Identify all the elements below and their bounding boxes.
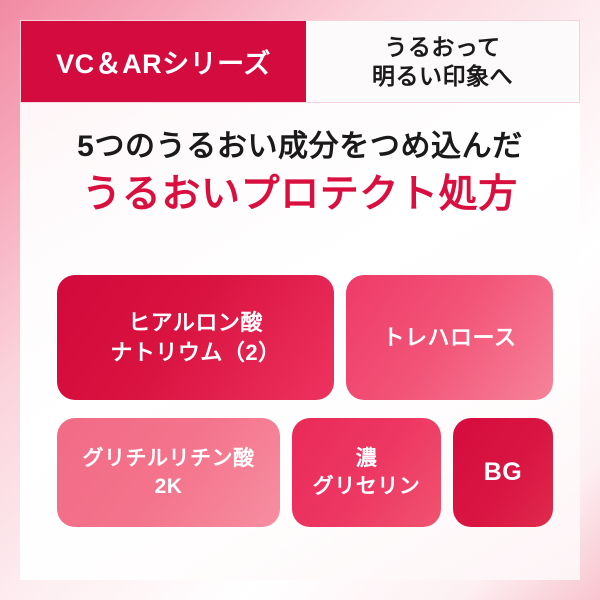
ingredient-label-line-1: 濃	[356, 447, 378, 470]
headline-line-1: 5つのうるおい成分をつめ込んだ	[20, 128, 580, 166]
ingredient-label-line-1: ヒアルロン酸	[128, 310, 263, 335]
series-badge: VC＆ARシリーズ	[21, 21, 306, 102]
ingredient-card-glycyrrhizinate: グリチルリチン酸 2K	[57, 418, 280, 527]
ingredient-card-trehalose: トレハロース	[346, 275, 553, 400]
header-catchcopy: うるおって 明るい印象へ	[306, 21, 579, 102]
ingredient-row-2: グリチルリチン酸 2K 濃 グリセリン BG	[57, 418, 553, 527]
header-bar: VC＆ARシリーズ うるおって 明るい印象へ	[20, 20, 580, 103]
catchcopy-line-2: 明るい印象へ	[372, 62, 513, 90]
ingredient-card-grid: ヒアルロン酸 ナトリウム（2） トレハロース グリチルリチン酸 2K 濃	[57, 275, 553, 527]
catchcopy-line-1: うるおって	[384, 33, 500, 61]
ingredient-row-1: ヒアルロン酸 ナトリウム（2） トレハロース	[57, 275, 553, 400]
ingredient-label-line-1: トレハロース	[383, 325, 517, 350]
headline-block: 5つのうるおい成分をつめ込んだ うるおいプロテクト処方	[20, 128, 580, 220]
ingredient-card-text: 濃 グリセリン	[313, 445, 421, 500]
headline-line-2: うるおいプロテクト処方	[20, 170, 580, 221]
ingredient-card-glycerin: 濃 グリセリン	[292, 418, 441, 527]
ingredient-card-text: トレハロース	[383, 323, 517, 352]
ingredient-card-hyaluronate: ヒアルロン酸 ナトリウム（2）	[57, 275, 334, 400]
ingredient-label-line-2: ナトリウム（2）	[110, 340, 280, 365]
ingredient-label-line-2: グリセリン	[313, 475, 421, 498]
ingredient-card-bg: BG	[453, 418, 553, 527]
ingredient-label-line-1: グリチルリチン酸	[83, 447, 255, 470]
ingredient-card-text: ヒアルロン酸 ナトリウム（2）	[110, 308, 280, 366]
ingredient-card-text: BG	[484, 456, 523, 489]
ingredient-card-text: グリチルリチン酸 2K	[83, 445, 255, 500]
ingredient-label-line-1: BG	[484, 458, 523, 486]
ingredient-label-line-2: 2K	[155, 475, 183, 498]
poster-canvas: VC＆ARシリーズ うるおって 明るい印象へ 5つのうるおい成分をつめ込んだ う…	[0, 0, 600, 600]
series-badge-label: VC＆ARシリーズ	[56, 42, 271, 81]
